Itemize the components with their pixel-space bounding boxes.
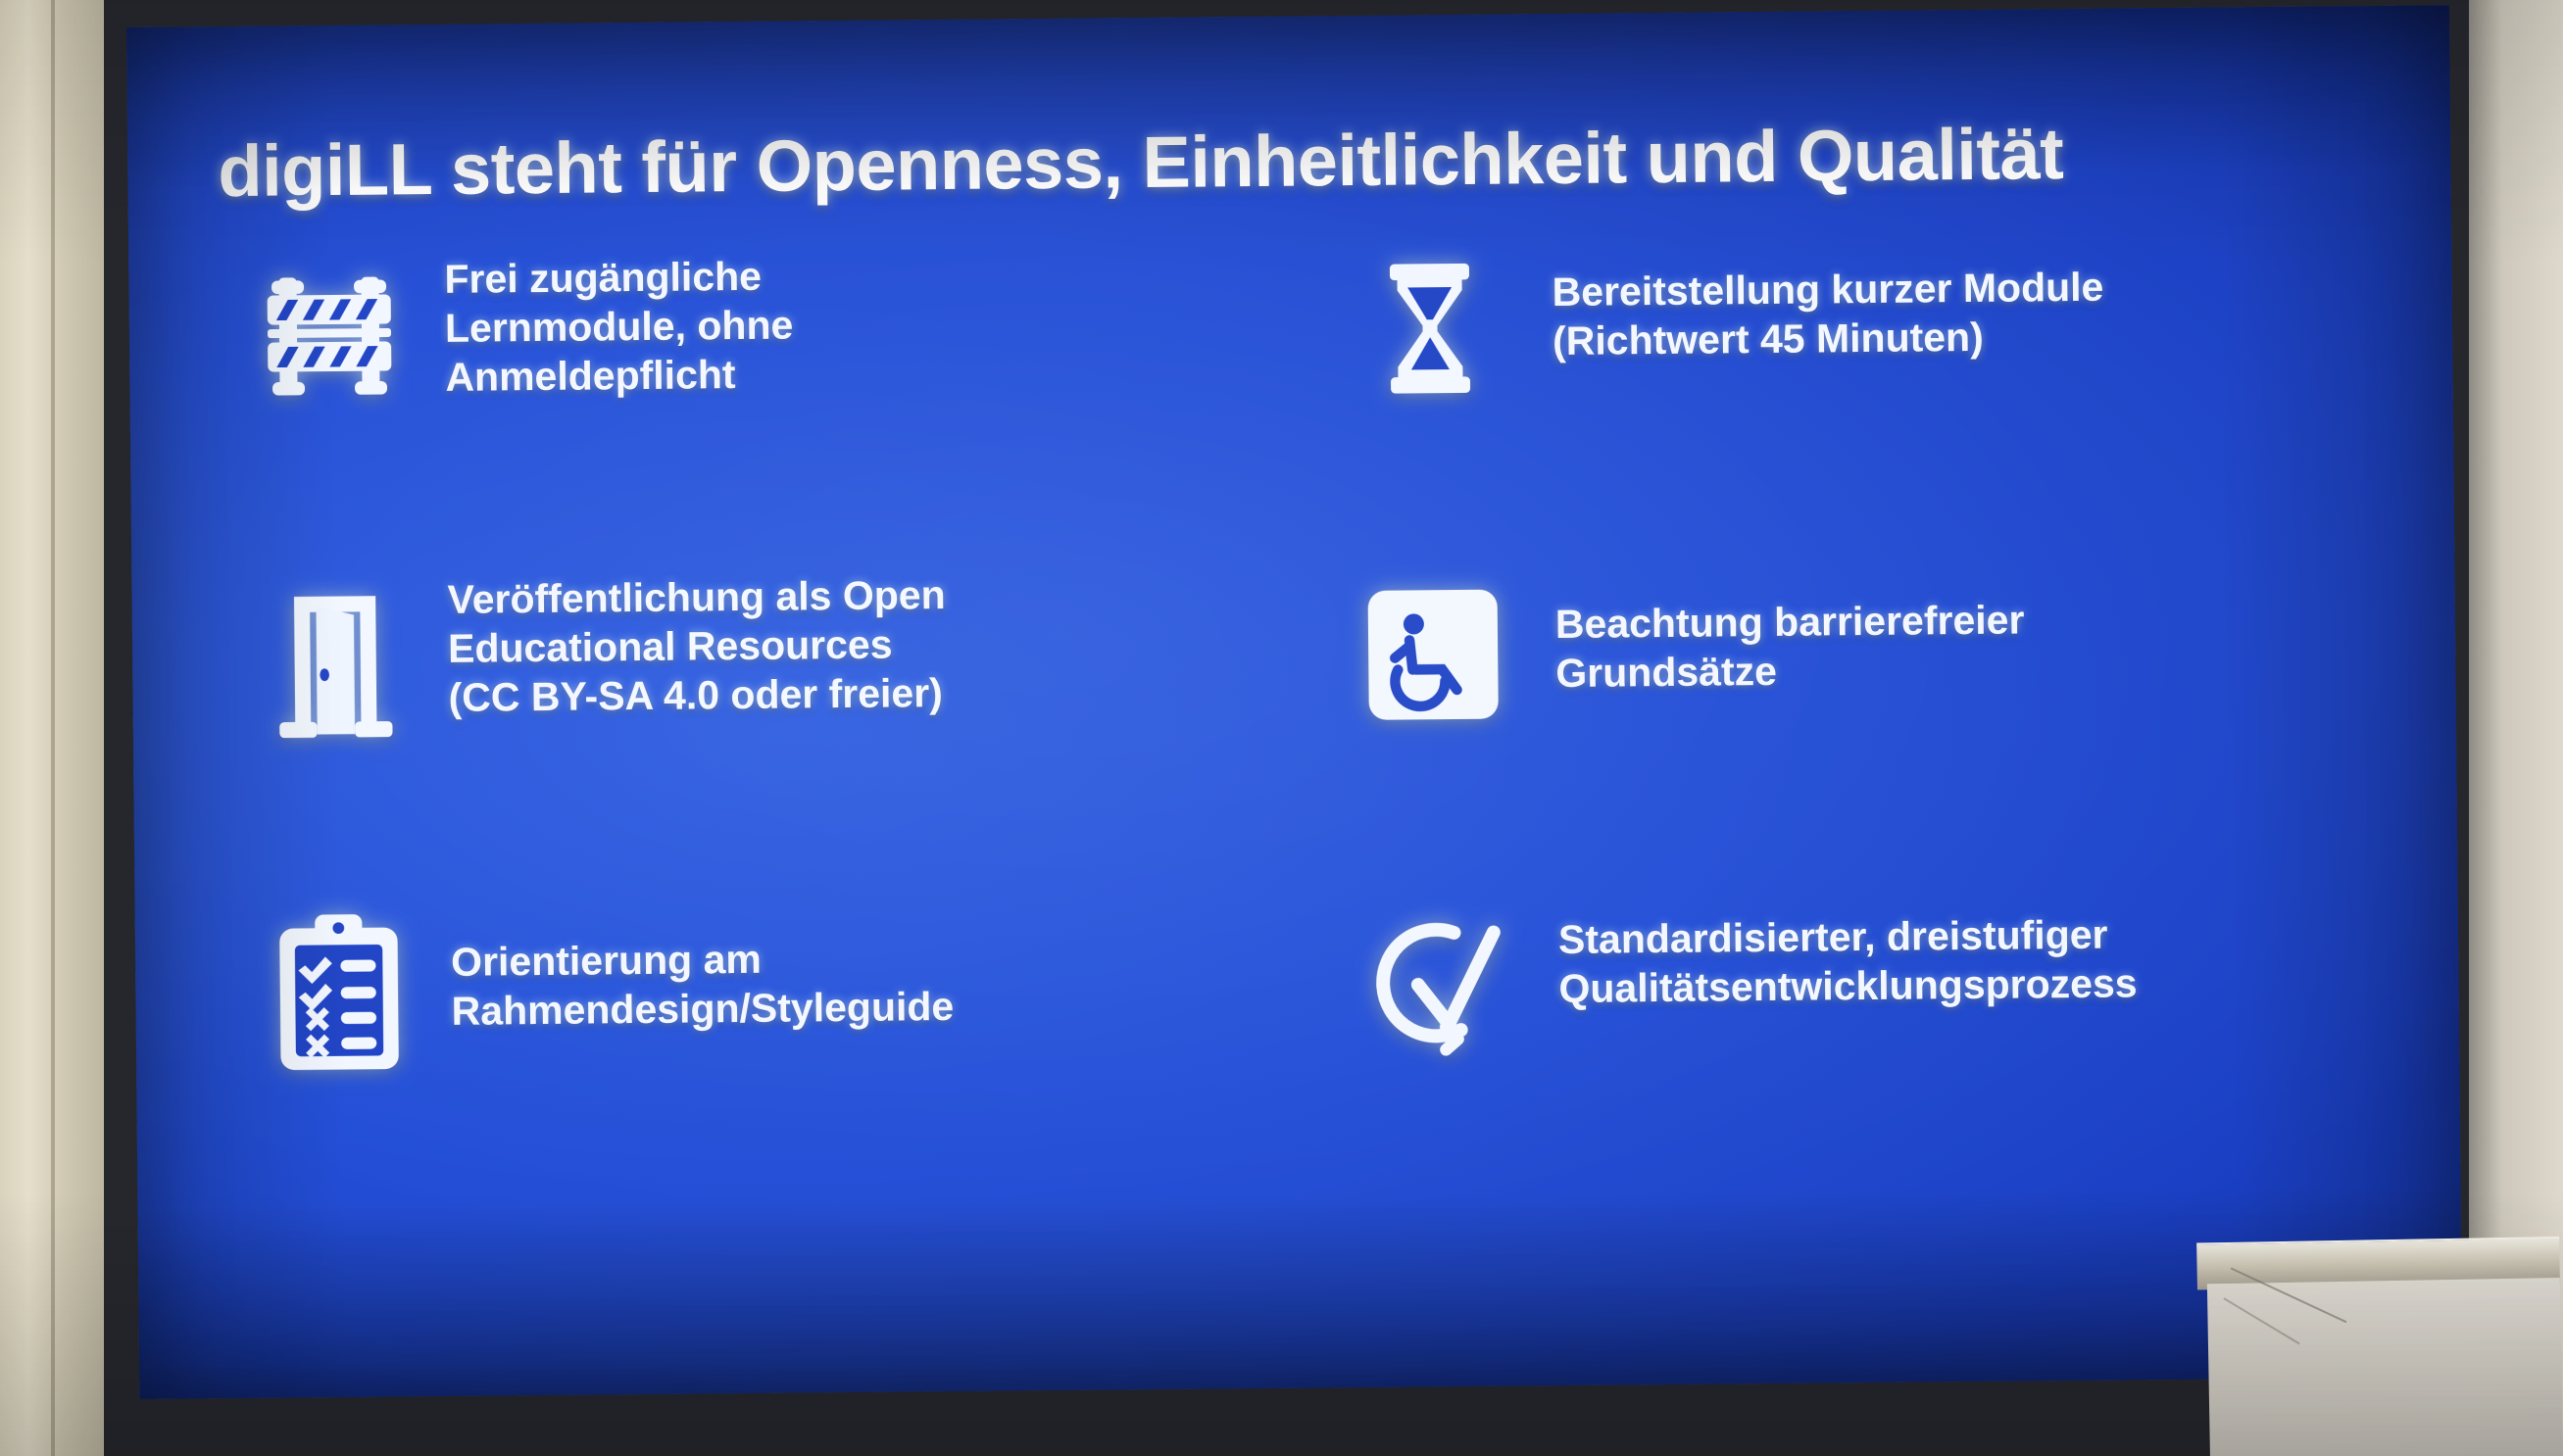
presentation-room-photo: digiLL steht für Openness, Einheitlichke… [0, 0, 2563, 1456]
feature-text: Bereitstellung kurzer Module (Richtwert … [1552, 229, 2104, 365]
cycle-checkmark-icon [1313, 888, 1560, 1076]
feature-line: Grundsätze [1555, 645, 2025, 699]
wheelchair-accessibility-icon [1309, 560, 1556, 749]
feature-grid: Frei zugängliche Lernmodule, ohne Anmeld… [219, 226, 2374, 1227]
presentation-slide: digiLL steht für Openness, Einheitlichke… [126, 5, 2462, 1399]
hourglass-icon [1306, 234, 1553, 422]
feature-line: Beachtung barrierefreier [1555, 596, 2025, 650]
feature-text: Standardisierter, dreistufiger Qualitäts… [1557, 882, 2137, 1013]
feature-item-barrierefreiheit: Beachtung barrierefreier Grundsätze [1309, 553, 2371, 890]
feature-item-frei-zugaengliche: Frei zugängliche Lernmodule, ohne Anmeld… [219, 237, 1280, 574]
feature-item-veroeffentlichung-als-oer: Veröffentlichung als Open Educational Re… [222, 563, 1283, 900]
flipchart-paper [2207, 1278, 2563, 1456]
feature-item-bereitstellung-kurzer-module: Bereitstellung kurzer Module (Richtwert … [1306, 226, 2368, 563]
feature-line: Qualitätsentwicklungsprozess [1558, 958, 2138, 1013]
feature-line: Orientierung am [451, 933, 954, 987]
feature-line: Anmeldepflicht [445, 350, 794, 402]
wall-seam [51, 0, 55, 1456]
feature-line: Rahmendesign/Styleguide [451, 982, 954, 1036]
feature-line: Frei zugängliche [444, 251, 793, 303]
flipchart-corner [2196, 1221, 2563, 1456]
feature-line: Educational Resources [448, 619, 946, 673]
feature-text: Beachtung barrierefreier Grundsätze [1554, 557, 2025, 699]
feature-line: Lernmodule, ohne [445, 301, 794, 353]
feature-item-orientierung-rahmendesign: Orientierung am Rahmendesign/Styleguide [225, 890, 1287, 1227]
feature-line: (CC BY-SA 4.0 oder freier) [448, 668, 946, 722]
feature-item-qualitaetsentwicklungsprozess: Standardisierter, dreistufiger Qualitäts… [1313, 880, 2375, 1217]
feature-text: Orientierung am Rahmendesign/Styleguide [451, 894, 955, 1036]
page-title: digiLL steht für Openness, Einheitlichke… [218, 109, 2355, 213]
feature-line: Bereitstellung kurzer Module [1552, 263, 2103, 316]
feature-line: Veröffentlichung als Open [447, 570, 945, 624]
left-wall [0, 0, 104, 1456]
open-door-icon [222, 571, 449, 759]
road-barrier-icon [219, 245, 446, 433]
feature-text: Frei zugängliche Lernmodule, ohne Anmeld… [444, 241, 794, 401]
feature-line: Standardisierter, dreistufiger [1558, 909, 2138, 964]
feature-line: (Richtwert 45 Minuten) [1553, 312, 2104, 365]
clipboard-checklist-icon [225, 898, 453, 1087]
feature-text: Veröffentlichung als Open Educational Re… [447, 566, 946, 722]
